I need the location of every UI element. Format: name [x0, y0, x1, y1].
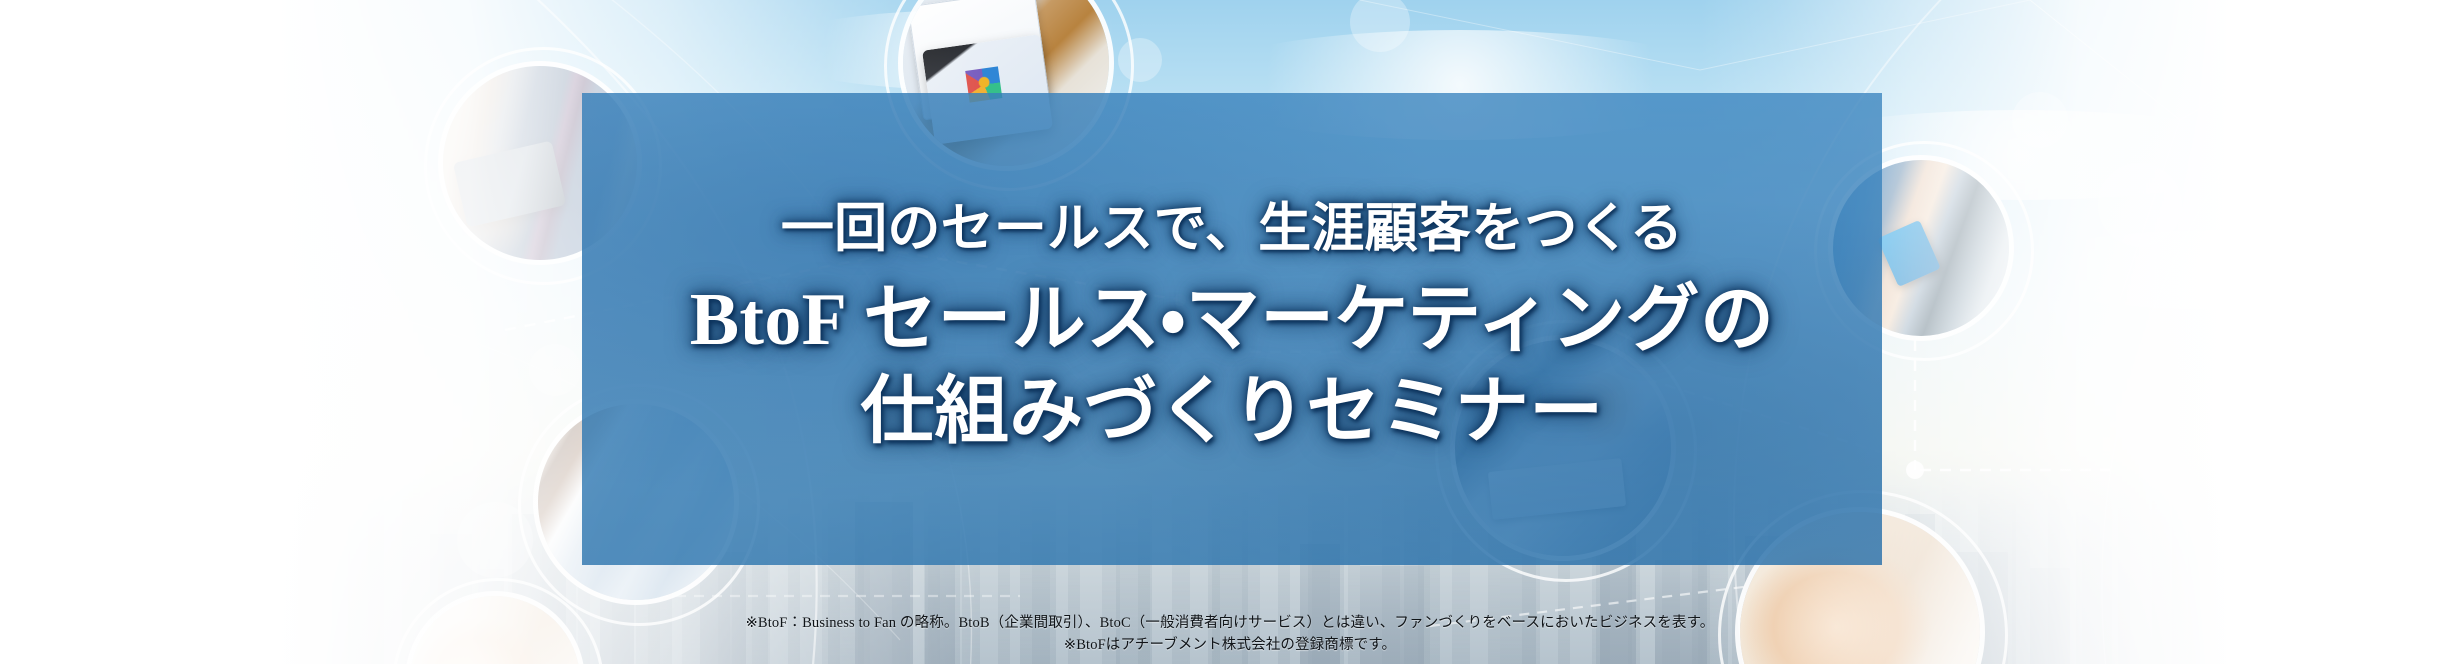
hero-banner: 一回のセールスで、生涯顧客をつくる BtoF セールス・マーケティングの 仕組み… [0, 0, 2460, 664]
footnote-line-1: ※BtoF：Business to Fan の略称。BtoB（企業間取引）、Bt… [0, 612, 2460, 634]
blue-overlay-panel [582, 93, 1882, 565]
footnote-block: ※BtoF：Business to Fan の略称。BtoB（企業間取引）、Bt… [0, 612, 2460, 656]
footnote-line-2: ※BtoFはアチーブメント株式会社の登録商標です。 [0, 634, 2460, 656]
